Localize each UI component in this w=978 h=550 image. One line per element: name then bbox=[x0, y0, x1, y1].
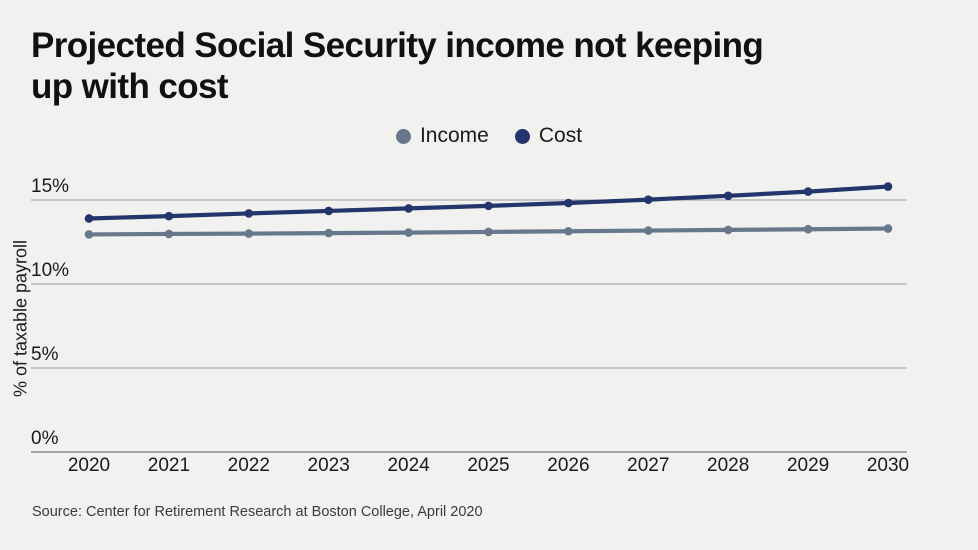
data-point-marker[interactable] bbox=[644, 195, 653, 204]
y-axis-tick-label: 5% bbox=[31, 344, 58, 366]
x-axis-tick-label: 2022 bbox=[228, 455, 270, 477]
x-axis-tick-label: 2024 bbox=[387, 455, 429, 477]
source-note: Source: Center for Retirement Research a… bbox=[32, 504, 483, 520]
data-point-marker[interactable] bbox=[724, 226, 733, 235]
data-point-marker[interactable] bbox=[324, 207, 333, 216]
x-axis-tick-label: 2020 bbox=[68, 455, 110, 477]
data-point-marker[interactable] bbox=[245, 209, 254, 218]
data-point-marker[interactable] bbox=[404, 228, 413, 237]
data-point-marker[interactable] bbox=[324, 229, 333, 238]
x-axis-tick-label: 2021 bbox=[148, 455, 190, 477]
plot-area: % of taxable payroll 0%5%10%15% 20202021… bbox=[0, 0, 978, 550]
data-point-marker[interactable] bbox=[804, 225, 813, 234]
data-point-marker[interactable] bbox=[165, 212, 174, 221]
x-axis-tick-label: 2026 bbox=[547, 455, 589, 477]
data-point-marker[interactable] bbox=[245, 229, 254, 238]
data-point-marker[interactable] bbox=[564, 199, 573, 208]
x-axis-tick-label: 2028 bbox=[707, 455, 749, 477]
x-axis-tick-label: 2027 bbox=[627, 455, 669, 477]
chart-figure: Projected Social Security income not kee… bbox=[0, 0, 978, 550]
data-point-marker[interactable] bbox=[884, 182, 893, 191]
data-point-marker[interactable] bbox=[564, 227, 573, 236]
y-axis-title: % of taxable payroll bbox=[11, 209, 32, 429]
data-point-marker[interactable] bbox=[724, 192, 733, 201]
data-point-marker[interactable] bbox=[484, 228, 493, 237]
data-point-marker[interactable] bbox=[165, 230, 174, 239]
data-point-marker[interactable] bbox=[644, 226, 653, 235]
data-point-marker[interactable] bbox=[404, 204, 413, 213]
x-axis-tick-label: 2030 bbox=[867, 455, 909, 477]
data-point-marker[interactable] bbox=[484, 202, 493, 211]
y-axis-tick-label: 0% bbox=[31, 428, 58, 450]
y-axis-tick-label: 15% bbox=[31, 176, 69, 198]
x-axis-tick-label: 2025 bbox=[467, 455, 509, 477]
y-axis-tick-label: 10% bbox=[31, 260, 69, 282]
data-point-marker[interactable] bbox=[884, 224, 893, 233]
data-point-marker[interactable] bbox=[804, 187, 813, 196]
data-point-marker[interactable] bbox=[85, 230, 94, 239]
x-axis-tick-label: 2023 bbox=[308, 455, 350, 477]
x-axis-tick-label: 2029 bbox=[787, 455, 829, 477]
data-point-marker[interactable] bbox=[85, 214, 94, 223]
